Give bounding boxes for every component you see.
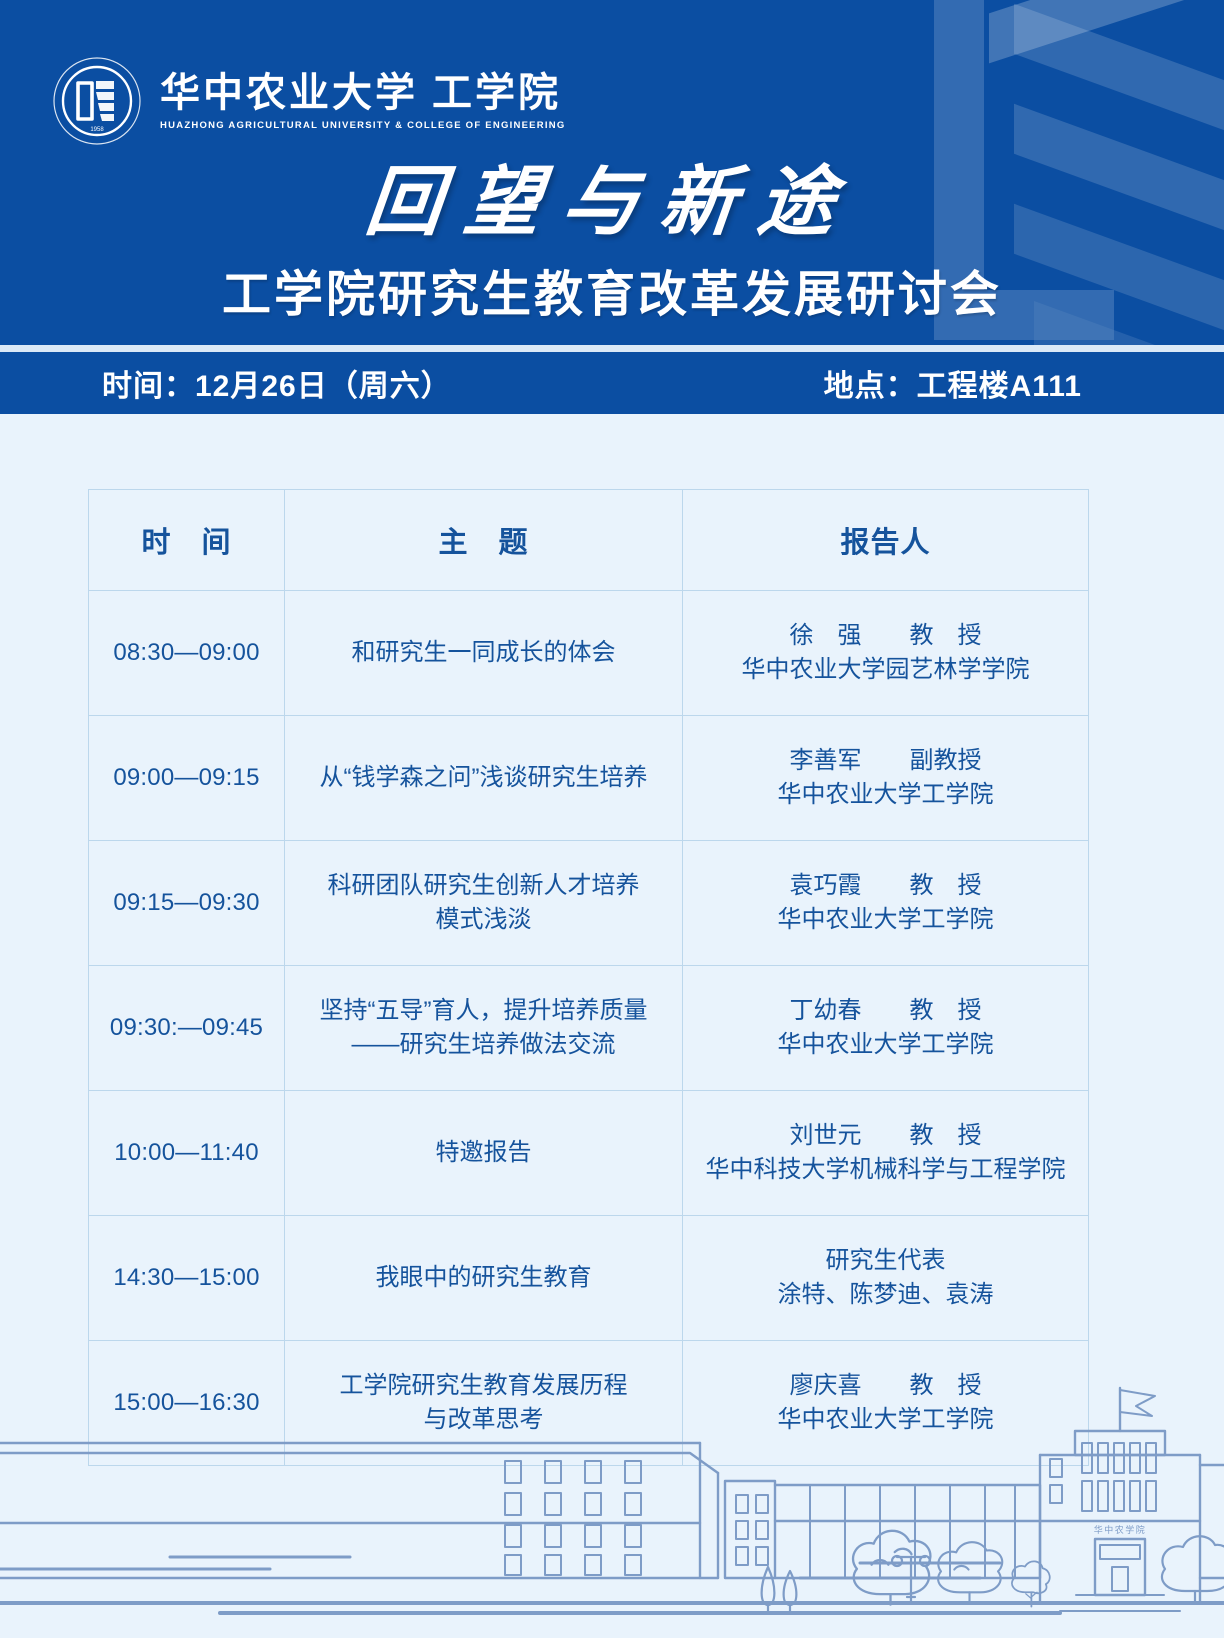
speaker-name: 刘世元 教 授 bbox=[689, 1119, 1082, 1153]
poster-subtitle: 工学院研究生教育改革发展研讨会 bbox=[0, 255, 1224, 326]
topic-line: 工学院研究生教育发展历程 bbox=[291, 1369, 676, 1403]
cell-speaker: 研究生代表涂特、陈梦迪、袁涛 bbox=[683, 1216, 1089, 1341]
cell-speaker: 李善军 副教授华中农业大学工学院 bbox=[683, 716, 1089, 841]
speaker-affiliation: 涂特、陈梦迪、袁涛 bbox=[689, 1278, 1082, 1312]
topic-line: 模式浅淡 bbox=[291, 903, 676, 937]
event-place: 地点：工程楼A111 bbox=[824, 361, 1082, 405]
building-plaque: 华中农学院 bbox=[1094, 1524, 1147, 1535]
schedule-table: 时 间 主 题 报告人 08:30—09:00和研究生一同成长的体会徐 强 教 … bbox=[88, 489, 1089, 1466]
cell-time: 15:00—16:30 bbox=[89, 1341, 285, 1466]
cell-topic: 和研究生一同成长的体会 bbox=[285, 591, 683, 716]
table-row: 09:00—09:15从“钱学森之问”浅谈研究生培养李善军 副教授华中农业大学工… bbox=[89, 716, 1089, 841]
brand-lockup: 1958 华中农业大学工学院 HUAZHONG AGRICULTURAL UNI… bbox=[52, 56, 566, 146]
column-header-topic: 主 题 bbox=[285, 490, 683, 591]
speaker-name: 徐 强 教 授 bbox=[689, 619, 1082, 653]
topic-line: 我眼中的研究生教育 bbox=[291, 1261, 676, 1295]
cell-speaker: 袁巧霞 教 授华中农业大学工学院 bbox=[683, 841, 1089, 966]
table-header-row: 时 间 主 题 报告人 bbox=[89, 490, 1089, 591]
table-row: 15:00—16:30工学院研究生教育发展历程与改革思考廖庆喜 教 授华中农业大… bbox=[89, 1341, 1089, 1466]
cell-time: 09:30:—09:45 bbox=[89, 966, 285, 1091]
event-time: 时间：12月26日（周六） bbox=[102, 361, 452, 405]
cell-topic: 特邀报告 bbox=[285, 1091, 683, 1216]
brand-name-cn-college: 工学院 bbox=[432, 70, 561, 115]
speaker-name: 研究生代表 bbox=[689, 1244, 1082, 1278]
cell-speaker: 廖庆喜 教 授华中农业大学工学院 bbox=[683, 1341, 1089, 1466]
speaker-affiliation: 华中农业大学工学院 bbox=[689, 1403, 1082, 1437]
cell-time: 09:00—09:15 bbox=[89, 716, 285, 841]
poster-header: 1958 华中农业大学工学院 HUAZHONG AGRICULTURAL UNI… bbox=[0, 0, 1224, 345]
brand-name-cn-main: 华中农业大学 bbox=[160, 70, 418, 115]
topic-line: 从“钱学森之问”浅谈研究生培养 bbox=[291, 761, 676, 795]
table-row: 10:00—11:40特邀报告刘世元 教 授华中科技大学机械科学与工程学院 bbox=[89, 1091, 1089, 1216]
column-header-speaker: 报告人 bbox=[683, 490, 1089, 591]
cell-topic: 坚持“五导”育人，提升培养质量——研究生培养做法交流 bbox=[285, 966, 683, 1091]
table-row: 08:30—09:00和研究生一同成长的体会徐 强 教 授华中农业大学园艺林学学… bbox=[89, 591, 1089, 716]
header-divider bbox=[0, 345, 1224, 352]
speaker-name: 李善军 副教授 bbox=[689, 744, 1082, 778]
topic-line: ——研究生培养做法交流 bbox=[291, 1028, 676, 1062]
topic-line: 和研究生一同成长的体会 bbox=[291, 636, 676, 670]
cell-time: 10:00—11:40 bbox=[89, 1091, 285, 1216]
cell-time: 09:15—09:30 bbox=[89, 841, 285, 966]
cell-speaker: 刘世元 教 授华中科技大学机械科学与工程学院 bbox=[683, 1091, 1089, 1216]
speaker-affiliation: 华中科技大学机械科学与工程学院 bbox=[689, 1153, 1082, 1187]
event-info-band: 时间：12月26日（周六） 地点：工程楼A111 bbox=[0, 352, 1224, 414]
topic-line: 与改革思考 bbox=[291, 1403, 676, 1437]
speaker-name: 廖庆喜 教 授 bbox=[689, 1369, 1082, 1403]
speaker-affiliation: 华中农业大学园艺林学学院 bbox=[689, 653, 1082, 687]
svg-text:1958: 1958 bbox=[90, 127, 104, 133]
street-lamp-icon bbox=[892, 1556, 930, 1603]
column-header-time: 时 间 bbox=[89, 490, 285, 591]
topic-line: 科研团队研究生创新人才培养 bbox=[291, 869, 676, 903]
cell-speaker: 徐 强 教 授华中农业大学园艺林学学院 bbox=[683, 591, 1089, 716]
cell-time: 14:30—15:00 bbox=[89, 1216, 285, 1341]
schedule-body: 08:30—09:00和研究生一同成长的体会徐 强 教 授华中农业大学园艺林学学… bbox=[89, 591, 1089, 1466]
speaker-affiliation: 华中农业大学工学院 bbox=[689, 903, 1082, 937]
university-seal-icon: 1958 bbox=[52, 56, 142, 146]
cell-topic: 工学院研究生教育发展历程与改革思考 bbox=[285, 1341, 683, 1466]
brand-name-en: HUAZHONG AGRICULTURAL UNIVERSITY & COLLE… bbox=[160, 120, 566, 131]
speaker-name: 丁幼春 教 授 bbox=[689, 994, 1082, 1028]
table-row: 09:30:—09:45坚持“五导”育人，提升培养质量——研究生培养做法交流丁幼… bbox=[89, 966, 1089, 1091]
cell-speaker: 丁幼春 教 授华中农业大学工学院 bbox=[683, 966, 1089, 1091]
table-row: 09:15—09:30科研团队研究生创新人才培养模式浅淡袁巧霞 教 授华中农业大… bbox=[89, 841, 1089, 966]
table-row: 14:30—15:00我眼中的研究生教育研究生代表涂特、陈梦迪、袁涛 bbox=[89, 1216, 1089, 1341]
cell-time: 08:30—09:00 bbox=[89, 591, 285, 716]
cell-topic: 科研团队研究生创新人才培养模式浅淡 bbox=[285, 841, 683, 966]
poster-calligraphy-title: 回望与新途 bbox=[0, 140, 1224, 250]
schedule-section: 时 间 主 题 报告人 08:30—09:00和研究生一同成长的体会徐 强 教 … bbox=[88, 489, 1088, 1466]
cell-topic: 从“钱学森之问”浅谈研究生培养 bbox=[285, 716, 683, 841]
topic-line: 特邀报告 bbox=[291, 1136, 676, 1170]
topic-line: 坚持“五导”育人，提升培养质量 bbox=[291, 994, 676, 1028]
speaker-name: 袁巧霞 教 授 bbox=[689, 869, 1082, 903]
brand-name-cn: 华中农业大学工学院 bbox=[160, 72, 566, 114]
speaker-affiliation: 华中农业大学工学院 bbox=[689, 1028, 1082, 1062]
cell-topic: 我眼中的研究生教育 bbox=[285, 1216, 683, 1341]
speaker-affiliation: 华中农业大学工学院 bbox=[689, 778, 1082, 812]
